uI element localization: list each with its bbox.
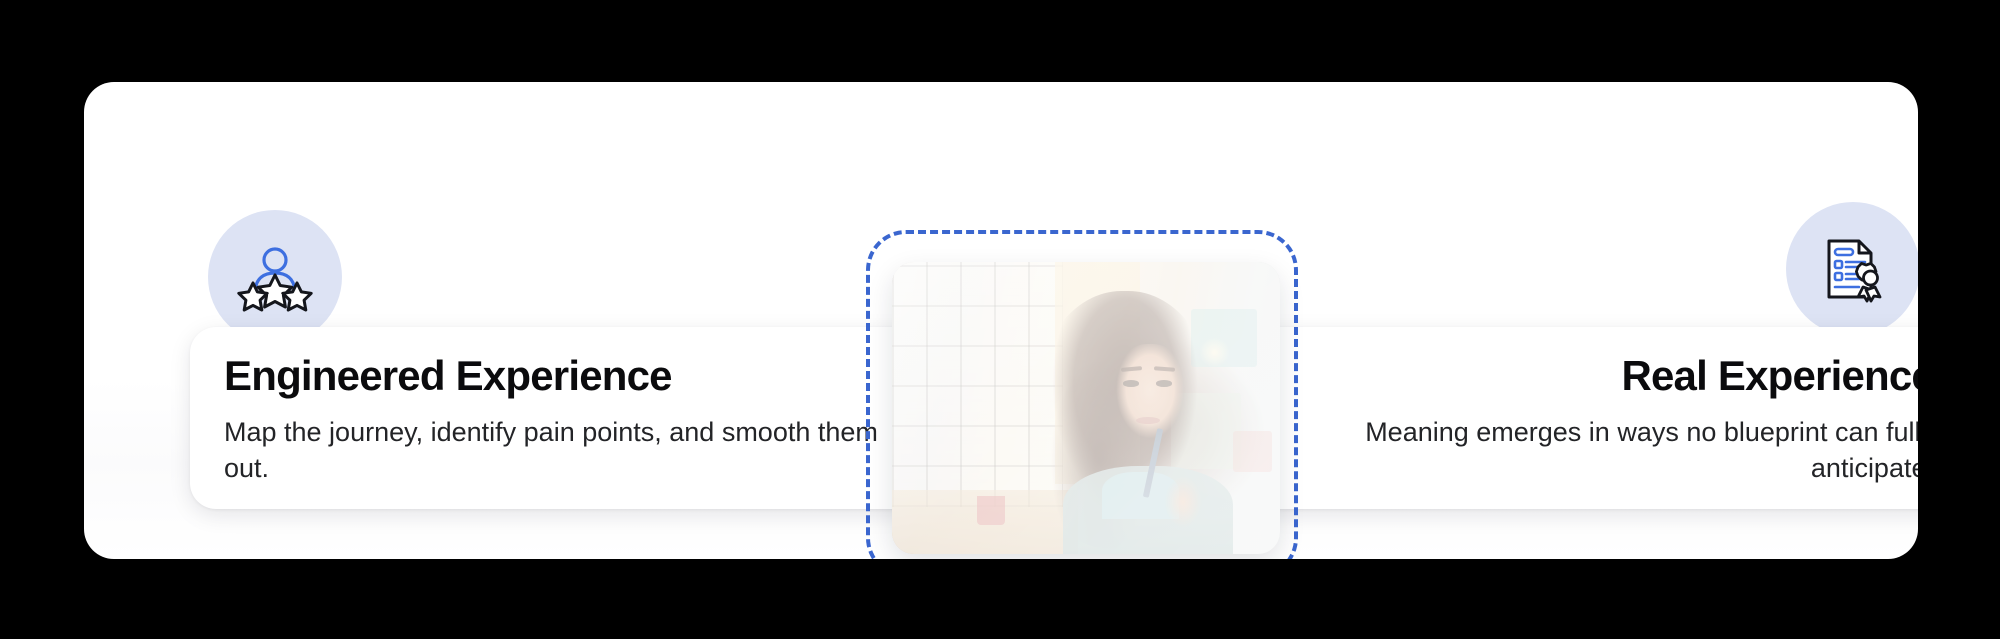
- right-icon-badge: [1786, 202, 1918, 336]
- customer-rating-icon: [236, 242, 314, 312]
- photo-plant-pot: [977, 496, 1004, 525]
- dropzone-media-frame[interactable]: [892, 262, 1280, 554]
- left-panel-title: Engineered Experience: [224, 353, 976, 399]
- page-root: Engineered Experience Map the journey, i…: [0, 0, 2000, 639]
- photo-hand: [1160, 475, 1210, 539]
- right-panel-title: Real Experience: [1198, 353, 1918, 399]
- right-panel-description: Meaning emerges in ways no blueprint can…: [1294, 415, 1918, 486]
- photo-eye: [1156, 380, 1172, 386]
- woman-thinking-with-pen-photo: [892, 262, 1280, 554]
- center-dropzone[interactable]: [866, 230, 1298, 559]
- left-panel-description: Map the journey, identify pain points, a…: [224, 415, 884, 486]
- photo-eye: [1123, 380, 1139, 386]
- left-icon-badge: [208, 210, 342, 344]
- certificate-award-icon: [1815, 231, 1891, 307]
- comparison-card: Engineered Experience Map the journey, i…: [84, 82, 1918, 559]
- photo-face: [1113, 344, 1187, 443]
- photo-lips: [1136, 417, 1159, 424]
- photo-sticky-note: [1233, 431, 1272, 472]
